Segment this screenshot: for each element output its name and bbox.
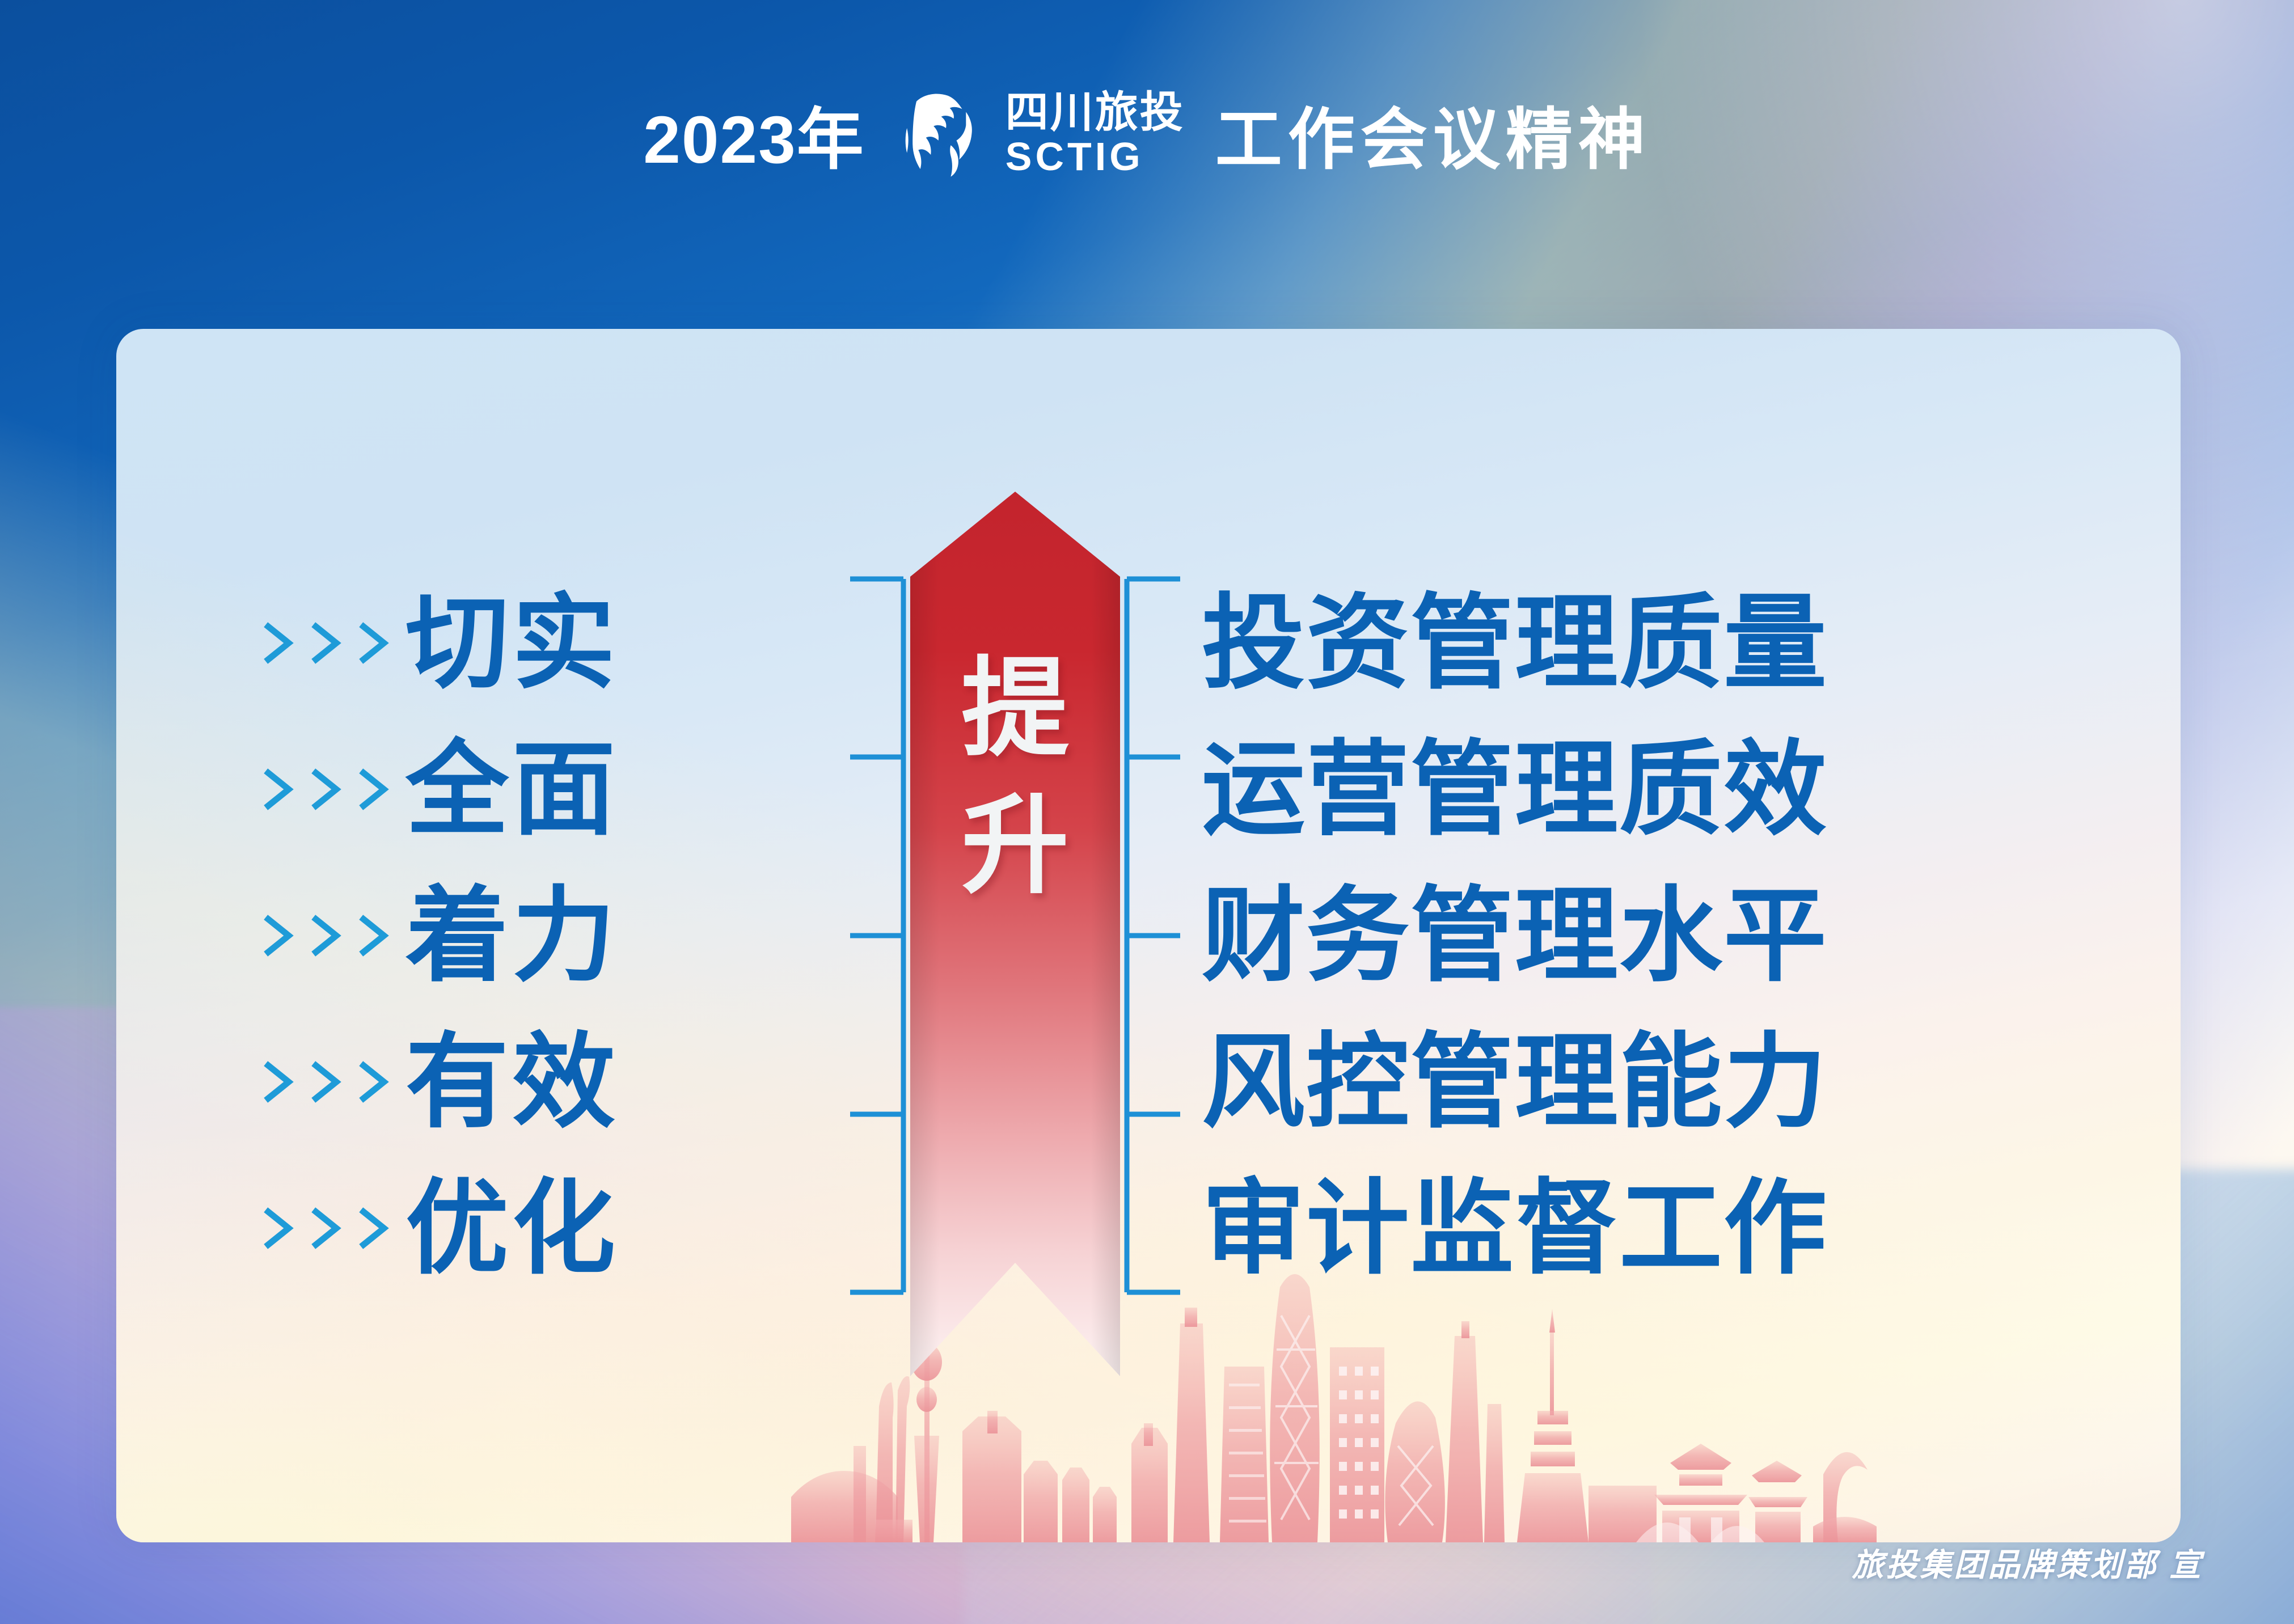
chevron-right-icon — [359, 622, 390, 664]
left-keyword-column: 切实 全面 着力 有效 优化 — [400, 329, 842, 1542]
right-goal-label: 审计监督工作 — [1202, 1177, 1828, 1280]
chevron-right-icon — [311, 622, 342, 664]
left-connector-bracket — [842, 329, 910, 1542]
right-connector-bracket — [1120, 329, 1188, 1542]
brand-logo-wordmark: 四川旅投 SCTIG — [1006, 91, 1185, 176]
chevron-group-row — [264, 570, 390, 716]
chevron-right-icon — [264, 768, 294, 810]
center-arrow-column: 提 升 — [910, 329, 1120, 1542]
right-goal-item: 风控管理能力 — [1202, 1009, 2181, 1155]
footer-credit: 旅投集团品牌策划部 宣 — [1852, 1540, 2203, 1585]
chevron-right-icon — [264, 622, 294, 664]
chevron-right-icon — [311, 915, 342, 957]
left-keyword-item: 全面 — [400, 716, 842, 862]
right-goal-item: 审计监督工作 — [1202, 1155, 2181, 1301]
left-keyword-label: 切实 — [405, 591, 619, 695]
header-title: 工作会议精神 — [1215, 85, 1651, 182]
right-goal-label: 财务管理水平 — [1202, 884, 1828, 987]
right-goal-label: 投资管理质量 — [1202, 591, 1828, 695]
brand-logo: 四川旅投 SCTIG — [895, 86, 1185, 181]
brand-logo-en: SCTIG — [1006, 137, 1185, 176]
right-goal-column: 投资管理质量 运营管理质效 财务管理水平 风控管理能力 审计监督工作 — [1188, 329, 2181, 1542]
left-keyword-item: 切实 — [400, 570, 842, 716]
chevron-group-row — [264, 862, 390, 1009]
chevron-right-icon — [359, 915, 390, 957]
chevron-right-icon — [264, 915, 294, 957]
upward-arrow-banner-icon: 提 升 — [910, 492, 1120, 1376]
arrow-label: 提 升 — [910, 655, 1120, 900]
chevron-column — [116, 329, 400, 1542]
main-content-grid: 切实 全面 着力 有效 优化 — [116, 329, 2181, 1542]
chevron-right-icon — [311, 1207, 342, 1249]
left-keyword-label: 优化 — [405, 1177, 619, 1280]
poster-root: 2023年 四川旅投 SCTIG 工作会议精神 — [0, 0, 2294, 1624]
left-keyword-label: 有效 — [405, 1030, 619, 1134]
right-goal-item: 运营管理质效 — [1202, 716, 2181, 862]
content-card: 切实 全面 着力 有效 优化 — [116, 329, 2181, 1542]
right-goal-label: 风控管理能力 — [1202, 1030, 1828, 1134]
chevron-group-row — [264, 716, 390, 862]
right-goal-item: 财务管理水平 — [1202, 862, 2181, 1009]
left-keyword-item: 着力 — [400, 862, 842, 1009]
chevron-right-icon — [359, 1207, 390, 1249]
chevron-right-icon — [264, 1207, 294, 1249]
brand-logo-cn: 四川旅投 — [1006, 91, 1185, 134]
chevron-group-row — [264, 1009, 390, 1155]
left-keyword-label: 全面 — [405, 738, 619, 841]
chevron-right-icon — [311, 768, 342, 810]
arrow-char-1: 提 — [961, 655, 1069, 763]
header-year: 2023年 — [643, 85, 865, 182]
chevron-right-icon — [264, 1061, 294, 1103]
right-goal-item: 投资管理质量 — [1202, 570, 2181, 716]
page-header: 2023年 四川旅投 SCTIG 工作会议精神 — [0, 85, 2294, 182]
left-keyword-item: 优化 — [400, 1155, 842, 1301]
left-keyword-item: 有效 — [400, 1009, 842, 1155]
arrow-char-2: 升 — [961, 792, 1069, 900]
chevron-right-icon — [359, 768, 390, 810]
footer-credit-label: 旅投集团品牌策划部 宣 — [1852, 1547, 2203, 1583]
chevron-right-icon — [359, 1061, 390, 1103]
right-goal-label: 运营管理质效 — [1202, 738, 1828, 841]
chevron-right-icon — [311, 1061, 342, 1103]
chevron-group-row — [264, 1155, 390, 1301]
left-keyword-label: 着力 — [405, 884, 619, 987]
globe-panda-mark-icon — [895, 86, 991, 181]
